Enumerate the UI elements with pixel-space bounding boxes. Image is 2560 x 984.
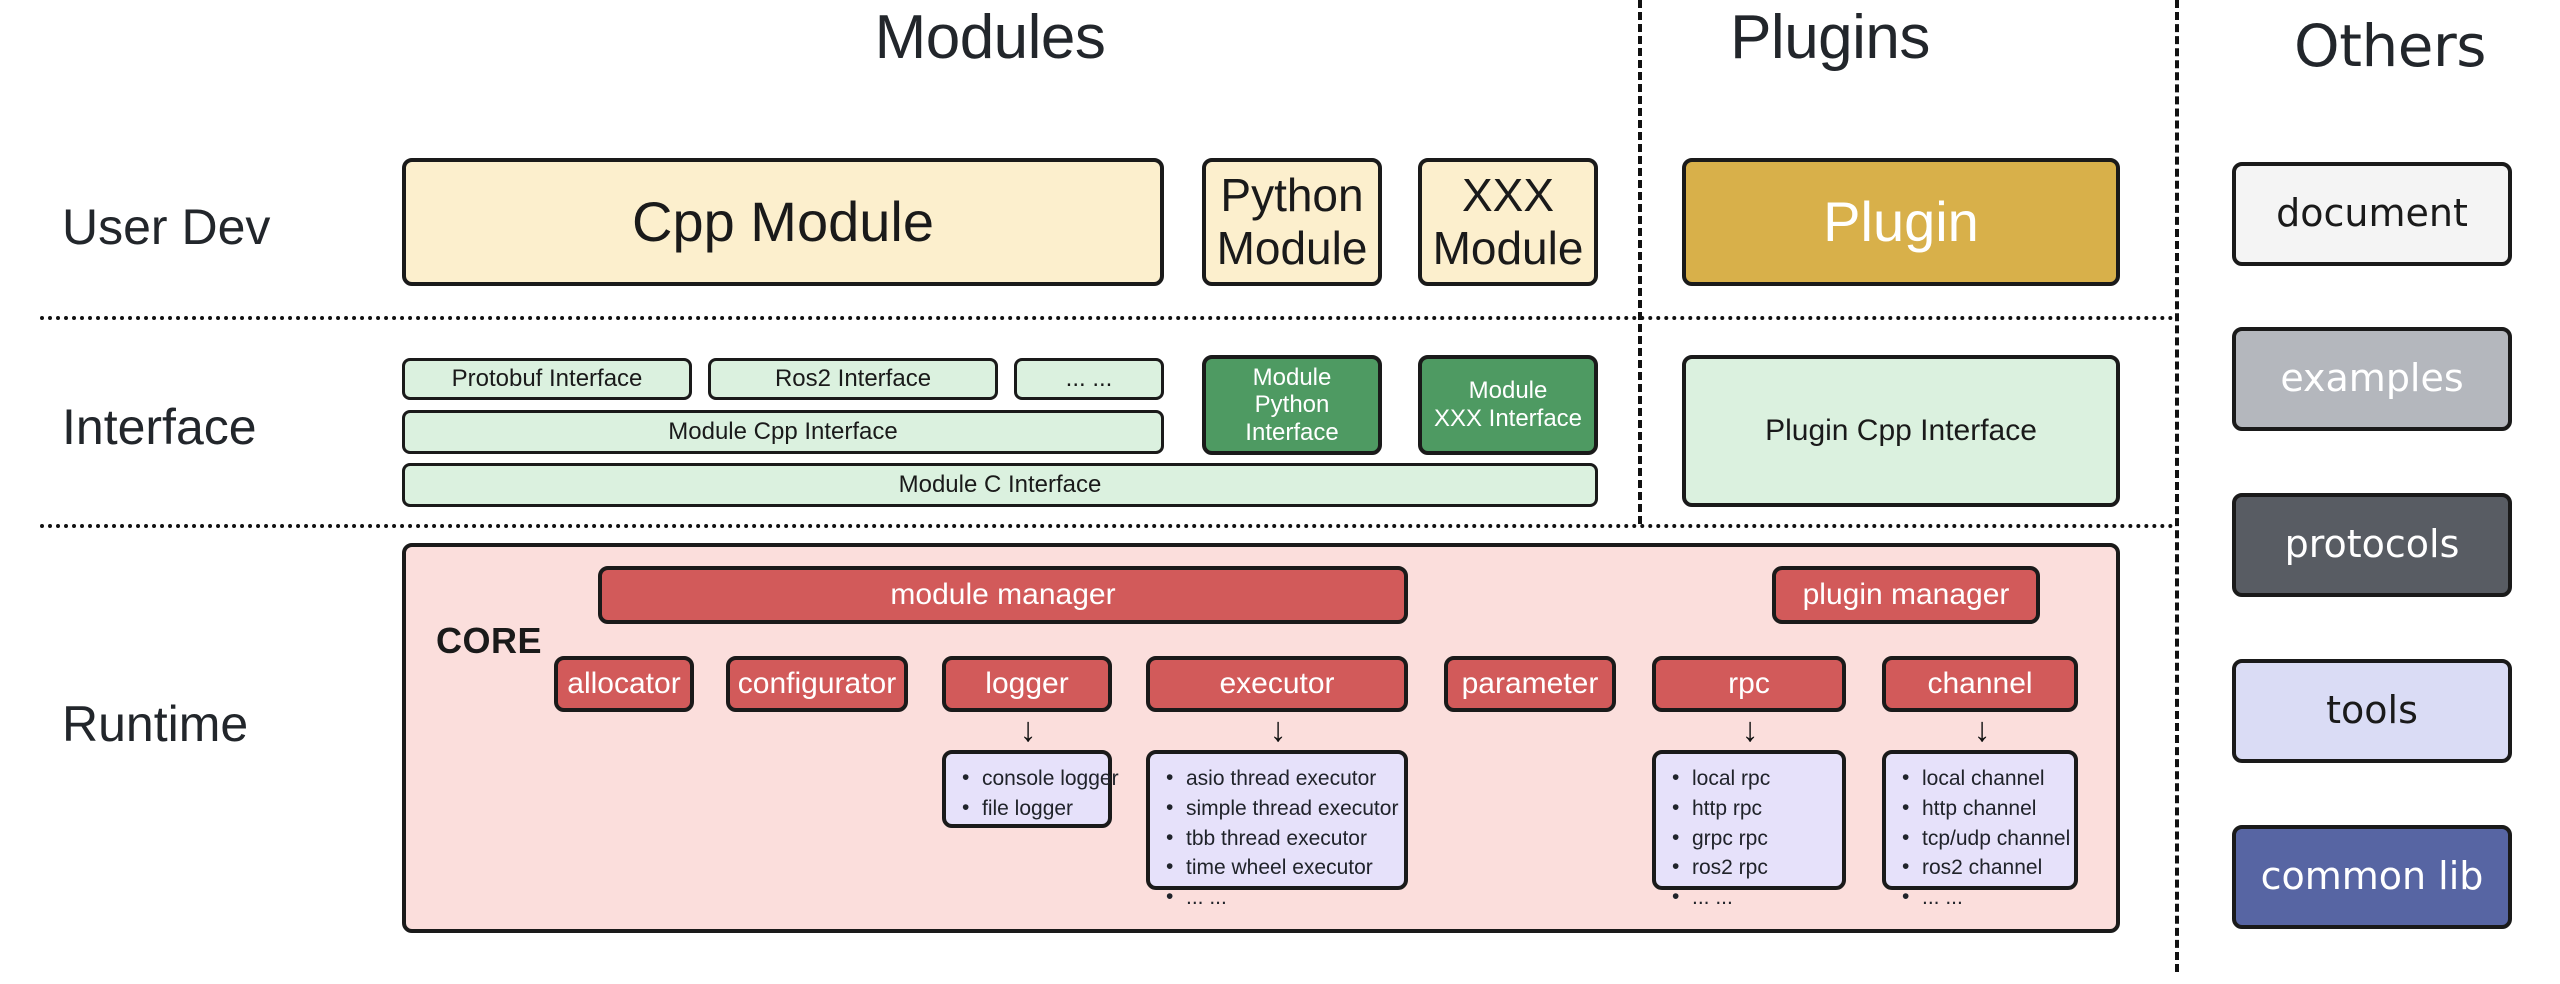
plugin-label: Plugin — [1823, 190, 1979, 254]
runtime-component-executor[interactable]: executor — [1146, 656, 1408, 712]
others-tools[interactable]: tools — [2232, 659, 2512, 763]
others-examples[interactable]: examples — [2232, 327, 2512, 431]
runtime-component-allocator[interactable]: allocator — [554, 656, 694, 712]
xxx-module-label-line1: XXX — [1462, 169, 1554, 222]
arrow-channel-icon: ↓ — [1962, 712, 2002, 748]
others-protocols-label: protocols — [2285, 523, 2460, 567]
python-module-label-line1: Python — [1220, 169, 1363, 222]
row-header-runtime: Runtime — [62, 695, 248, 753]
interface-module-xxx[interactable]: Module XXX Interface — [1418, 355, 1598, 455]
runtime-component-logger[interactable]: logger — [942, 656, 1112, 712]
module-c-interface-label: Module C Interface — [899, 471, 1102, 499]
user-dev-python-module[interactable]: Python Module — [1202, 158, 1382, 286]
interface-module-c[interactable]: Module C Interface — [402, 463, 1598, 507]
cpp-module-label: Cpp Module — [632, 190, 934, 254]
allocator-label: allocator — [567, 667, 680, 702]
rpc-impl-list: local rpc http rpc grpc rpc ros2 rpc ...… — [1652, 750, 1846, 890]
configurator-label: configurator — [738, 667, 896, 702]
arrow-executor-icon: ↓ — [1258, 712, 1298, 748]
user-dev-cpp-module[interactable]: Cpp Module — [402, 158, 1164, 286]
runtime-component-channel[interactable]: channel — [1882, 656, 2078, 712]
channel-impl-list: local channel http channel tcp/udp chann… — [1882, 750, 2078, 890]
executor-impl-list: asio thread executor simple thread execu… — [1146, 750, 1408, 890]
plugin-cpp-interface-label: Plugin Cpp Interface — [1765, 414, 2037, 449]
runtime-component-parameter[interactable]: parameter — [1444, 656, 1616, 712]
ellipsis-interface-label: ... ... — [1066, 365, 1113, 393]
parameter-label: parameter — [1462, 667, 1599, 702]
list-item: simple thread executor — [1164, 794, 1392, 824]
module-xxx-interface-label-line1: Module — [1469, 377, 1548, 405]
interface-module-python[interactable]: Module Python Interface — [1202, 355, 1382, 455]
list-item: time wheel executor — [1164, 853, 1392, 883]
list-item: ... ... — [1164, 883, 1392, 913]
arrow-logger-icon: ↓ — [1008, 712, 1048, 748]
logger-label: logger — [985, 667, 1068, 702]
architecture-diagram: Modules Plugins Others User Dev Interfac… — [0, 0, 2560, 984]
column-header-others: Others — [2250, 12, 2530, 80]
separator-interface-runtime — [40, 524, 2175, 528]
channel-impl-items: local channel http channel tcp/udp chann… — [1900, 764, 2062, 913]
others-examples-label: examples — [2280, 357, 2463, 401]
others-document[interactable]: document — [2232, 162, 2512, 266]
column-header-modules: Modules — [780, 2, 1200, 73]
plugin-manager-label: plugin manager — [1803, 578, 2010, 613]
user-dev-plugin[interactable]: Plugin — [1682, 158, 2120, 286]
interface-ellipsis[interactable]: ... ... — [1014, 358, 1164, 400]
executor-label: executor — [1219, 667, 1334, 702]
interface-protobuf[interactable]: Protobuf Interface — [402, 358, 692, 400]
others-protocols[interactable]: protocols — [2232, 493, 2512, 597]
logger-impl-list: console logger file logger — [942, 750, 1112, 828]
list-item: ros2 channel — [1900, 853, 2062, 883]
logger-impl-items: console logger file logger — [960, 764, 1096, 824]
list-item: ros2 rpc — [1670, 853, 1830, 883]
list-item: grpc rpc — [1670, 824, 1830, 854]
ros2-interface-label: Ros2 Interface — [775, 365, 931, 393]
separator-user-dev-interface — [40, 316, 2175, 320]
arrow-rpc-icon: ↓ — [1730, 712, 1770, 748]
list-item: local channel — [1900, 764, 2062, 794]
interface-module-cpp[interactable]: Module Cpp Interface — [402, 410, 1164, 454]
list-item: tbb thread executor — [1164, 824, 1392, 854]
core-label: CORE — [436, 620, 542, 662]
list-item: ... ... — [1900, 883, 2062, 913]
list-item: ... ... — [1670, 883, 1830, 913]
list-item: asio thread executor — [1164, 764, 1392, 794]
others-common-lib[interactable]: common lib — [2232, 825, 2512, 929]
runtime-plugin-manager[interactable]: plugin manager — [1772, 566, 2040, 624]
rpc-impl-items: local rpc http rpc grpc rpc ros2 rpc ...… — [1670, 764, 1830, 913]
separator-plugins-others — [2175, 0, 2179, 972]
separator-modules-plugins — [1638, 0, 1642, 524]
runtime-component-rpc[interactable]: rpc — [1652, 656, 1846, 712]
others-document-label: document — [2276, 192, 2468, 236]
list-item: http rpc — [1670, 794, 1830, 824]
list-item: local rpc — [1670, 764, 1830, 794]
interface-plugin-cpp[interactable]: Plugin Cpp Interface — [1682, 355, 2120, 507]
module-xxx-interface-label-line2: XXX Interface — [1434, 405, 1582, 433]
list-item: http channel — [1900, 794, 2062, 824]
rpc-label: rpc — [1728, 667, 1770, 702]
interface-ros2[interactable]: Ros2 Interface — [708, 358, 998, 400]
row-header-user-dev: User Dev — [62, 198, 270, 256]
others-tools-label: tools — [2326, 689, 2418, 733]
row-header-interface: Interface — [62, 398, 257, 456]
channel-label: channel — [1927, 667, 2032, 702]
list-item: console logger — [960, 764, 1096, 794]
module-python-interface-label-line2: Python Interface — [1206, 391, 1378, 446]
list-item: tcp/udp channel — [1900, 824, 2062, 854]
module-python-interface-label-line1: Module — [1253, 364, 1332, 392]
list-item: file logger — [960, 794, 1096, 824]
executor-impl-items: asio thread executor simple thread execu… — [1164, 764, 1392, 913]
module-manager-label: module manager — [890, 578, 1115, 613]
runtime-component-configurator[interactable]: configurator — [726, 656, 908, 712]
module-cpp-interface-label: Module Cpp Interface — [668, 418, 897, 446]
protobuf-interface-label: Protobuf Interface — [452, 365, 643, 393]
runtime-module-manager[interactable]: module manager — [598, 566, 1408, 624]
column-header-plugins: Plugins — [1600, 2, 2060, 73]
python-module-label-line2: Module — [1217, 222, 1368, 275]
xxx-module-label-line2: Module — [1433, 222, 1584, 275]
user-dev-xxx-module[interactable]: XXX Module — [1418, 158, 1598, 286]
others-common-lib-label: common lib — [2261, 855, 2484, 899]
